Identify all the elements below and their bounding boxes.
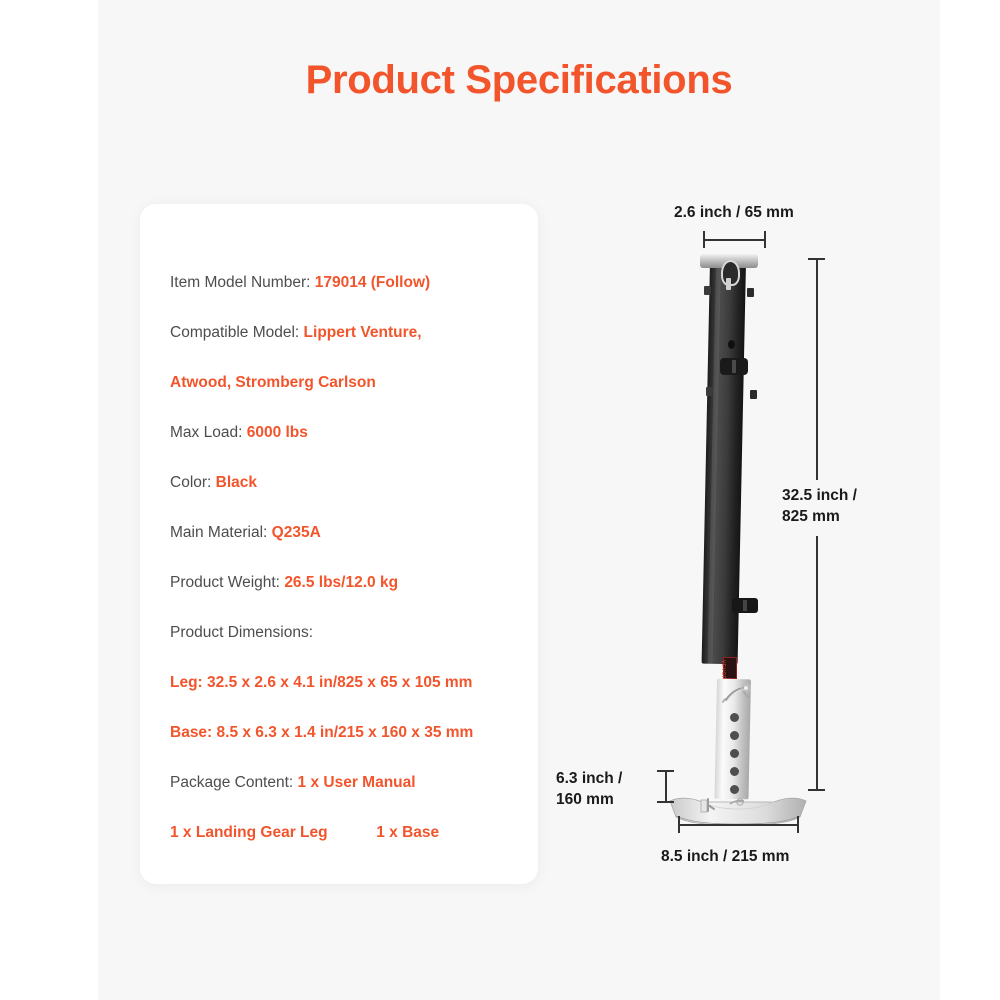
spec-value: Lippert Venture,	[304, 324, 422, 341]
leg-hole	[728, 340, 735, 349]
spec-label: Compatible Model:	[170, 324, 299, 341]
adjustment-hole	[730, 785, 739, 794]
spec-value: 179014 (Follow)	[315, 274, 430, 291]
dimension-tick-depth-top	[657, 770, 674, 772]
spec-label: Color:	[170, 474, 211, 491]
spec-value: 1 x User Manual	[298, 774, 416, 791]
locking-pin-icon	[722, 684, 756, 706]
dimension-line-height-upper	[816, 258, 818, 480]
side-tab-left	[704, 286, 711, 295]
page-title: Product Specifications	[98, 58, 940, 103]
side-tab-right	[747, 288, 754, 297]
dimension-line-height-lower	[816, 536, 818, 790]
dimension-tick-top-right	[764, 231, 766, 248]
dimension-label-base-width: 8.5 inch / 215 mm	[661, 846, 789, 867]
spec-row-item-model-number: Item Model Number: 179014 (Follow)	[170, 258, 520, 308]
dimension-tick-base-right	[797, 816, 799, 833]
spec-row-compatible-model-cont: Atwood, Stromberg Carlson	[170, 358, 520, 408]
spec-row-max-load: Max Load: 6000 lbs	[170, 408, 520, 458]
spec-row-compatible-model: Compatible Model: Lippert Venture,	[170, 308, 520, 358]
dimension-label-height: 32.5 inch / 825 mm	[782, 485, 857, 527]
adjustment-hole	[730, 713, 739, 722]
spec-value: Black	[216, 474, 257, 491]
top-bolt-stem	[726, 278, 731, 290]
spec-value: Q235A	[272, 524, 321, 541]
adjustment-hole	[730, 749, 739, 758]
adjustment-hole	[730, 731, 739, 740]
side-tab-right-lower	[750, 390, 757, 399]
dimension-line-base-width	[678, 824, 798, 826]
spec-row-main-material: Main Material: Q235A	[170, 508, 520, 558]
dimension-label-base-depth: 6.3 inch / 160 mm	[556, 768, 622, 810]
dimension-label-base-depth-line1: 6.3 inch /	[556, 770, 622, 787]
spec-row-product-dimensions: Product Dimensions:	[170, 608, 520, 658]
side-tab-left-lower	[706, 387, 713, 396]
dimension-tick-depth-bottom	[657, 801, 674, 803]
vevor-brand-badge: VEVOR	[723, 657, 737, 679]
mid-mounting-bracket	[720, 358, 748, 375]
spec-label: Package Content:	[170, 774, 293, 791]
dimension-tick-top-left	[703, 231, 705, 248]
specifications-list: Item Model Number: 179014 (Follow) Compa…	[170, 258, 520, 858]
spec-row-package-content: Package Content: 1 x User Manual	[170, 758, 520, 808]
spec-value: 6000 lbs	[247, 424, 308, 441]
spec-row-product-weight: Product Weight: 26.5 lbs/12.0 kg	[170, 558, 520, 608]
package-item-landing-gear-leg: 1 x Landing Gear Leg	[170, 824, 328, 841]
product-spec-page: Product Specifications Item Model Number…	[0, 0, 1000, 1000]
dimension-tick-height-bottom	[808, 789, 825, 791]
spec-label: Main Material:	[170, 524, 267, 541]
dimension-label-height-line2: 825 mm	[782, 508, 840, 525]
dimension-label-base-depth-line2: 160 mm	[556, 791, 614, 808]
package-item-base: 1 x Base	[376, 824, 439, 841]
dimension-label-top-width: 2.6 inch / 65 mm	[674, 202, 794, 223]
spec-label: Product Dimensions:	[170, 624, 313, 641]
spec-row-color: Color: Black	[170, 458, 520, 508]
dimension-label-height-line1: 32.5 inch /	[782, 487, 857, 504]
spec-label: Item Model Number:	[170, 274, 310, 291]
spec-value: 26.5 lbs/12.0 kg	[284, 574, 398, 591]
spec-label: Product Weight:	[170, 574, 280, 591]
spec-row-leg-dimensions: Leg: 32.5 x 2.6 x 4.1 in/825 x 65 x 105 …	[170, 658, 520, 708]
dimension-line-base-depth	[665, 770, 667, 802]
adjustment-hole	[730, 767, 739, 776]
dimension-line-top-width	[703, 239, 765, 241]
lower-mounting-bracket	[732, 598, 758, 613]
spec-label: Max Load:	[170, 424, 242, 441]
spec-row-base-dimensions: Base: 8.5 x 6.3 x 1.4 in/215 x 160 x 35 …	[170, 708, 520, 758]
vevor-brand-text: VEVOR	[720, 660, 726, 680]
spec-row-package-items: 1 x Landing Gear Leg 1 x Base	[170, 808, 520, 858]
